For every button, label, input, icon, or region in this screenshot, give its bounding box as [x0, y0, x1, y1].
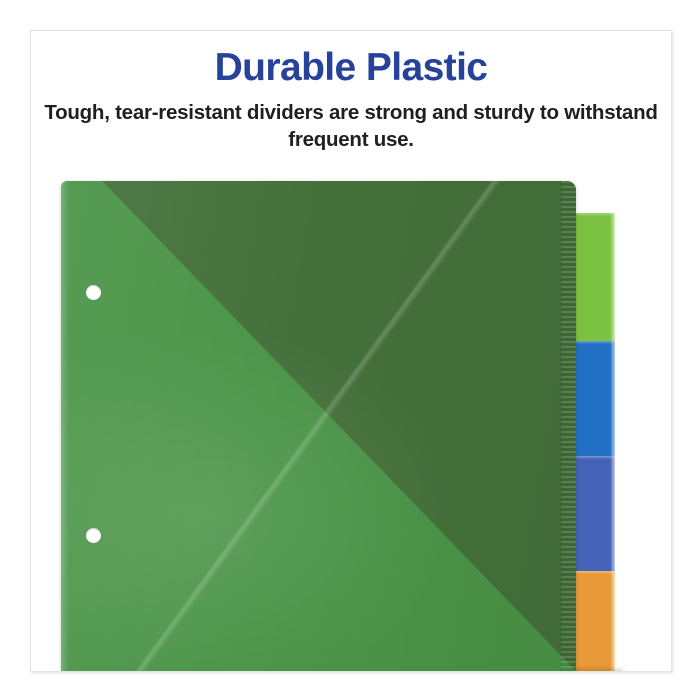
- index-tab-stack: [570, 213, 615, 672]
- left-edge-highlight: [61, 181, 69, 671]
- index-tab-orange: [570, 571, 615, 672]
- punch-hole-top: [86, 285, 101, 300]
- index-tab-blue: [570, 341, 615, 458]
- page-subtitle: Tough, tear-resistant dividers are stron…: [31, 89, 671, 154]
- product-feature-card: Durable Plastic Tough, tear-resistant di…: [30, 30, 672, 672]
- product-image: [31, 181, 671, 671]
- headline-block: Durable Plastic Tough, tear-resistant di…: [31, 31, 671, 153]
- binding-strip: [561, 181, 576, 671]
- plastic-sheen: [61, 181, 576, 671]
- punch-hole-bottom: [86, 528, 101, 543]
- index-tab-indigo: [570, 456, 615, 573]
- divider-sheet: [61, 181, 576, 671]
- index-tab-lime: [570, 213, 615, 343]
- page-title: Durable Plastic: [31, 31, 671, 89]
